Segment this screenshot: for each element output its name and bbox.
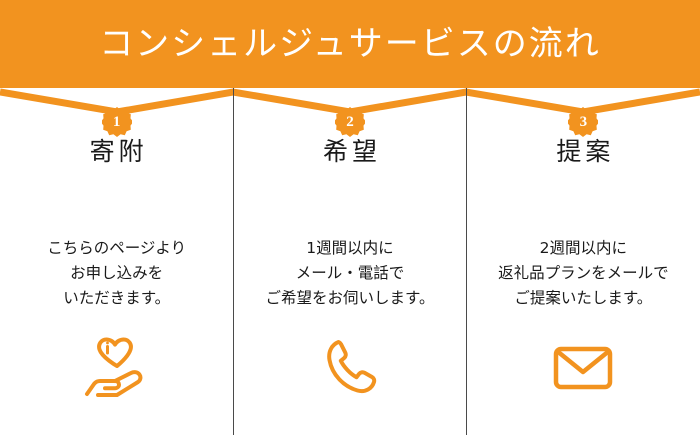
page-title: コンシェルジュサービスの流れ (99, 27, 601, 61)
step-description-2: 1週間以内に メール・電話で ご希望をお伺いします。 (233, 236, 466, 310)
description-line: ご希望をお伺いします。 (233, 286, 466, 311)
step-badge-2: 2 (233, 107, 466, 137)
description-line: いただきます。 (0, 286, 233, 311)
description-line: お申し込みを (0, 261, 233, 286)
description-line: メール・電話で (233, 261, 466, 286)
step-column-2: 2 希望 1週間以内に メール・電話で ご希望をお伺いします。 (233, 88, 466, 435)
envelope-icon (467, 336, 700, 398)
steps-container: 1 寄附 こちらのページより お申し込みを いただきます。 (0, 88, 700, 435)
concierge-flow-infographic: コンシェルジュサービスの流れ 1 寄附 こちらのページより お申し込みを いただ… (0, 0, 700, 435)
step-description-1: こちらのページより お申し込みを いただきます。 (0, 236, 233, 310)
description-line: こちらのページより (0, 236, 233, 261)
step-label-3: 提案 (467, 138, 700, 166)
step-description-3: 2週間以内に 返礼品プランをメールで ご提案いたします。 (467, 236, 700, 310)
step-column-1: 1 寄附 こちらのページより お申し込みを いただきます。 (0, 88, 233, 435)
phone-icon (233, 336, 466, 398)
description-line: ご提案いたします。 (467, 286, 700, 311)
header-band: コンシェルジュサービスの流れ (0, 0, 700, 88)
hand-holding-heart-icon (0, 336, 233, 398)
step-label-2: 希望 (233, 138, 466, 166)
step-label-1: 寄附 (0, 138, 233, 166)
description-line: 1週間以内に (233, 236, 466, 261)
description-line: 2週間以内に (467, 236, 700, 261)
step-badge-3: 3 (467, 107, 700, 137)
step-number-3: 3 (568, 107, 598, 137)
step-number-2: 2 (335, 107, 365, 137)
step-column-3: 3 提案 2週間以内に 返礼品プランをメールで ご提案いたします。 (467, 88, 700, 435)
step-badge-1: 1 (0, 107, 233, 137)
step-number-1: 1 (102, 107, 132, 137)
description-line: 返礼品プランをメールで (467, 261, 700, 286)
